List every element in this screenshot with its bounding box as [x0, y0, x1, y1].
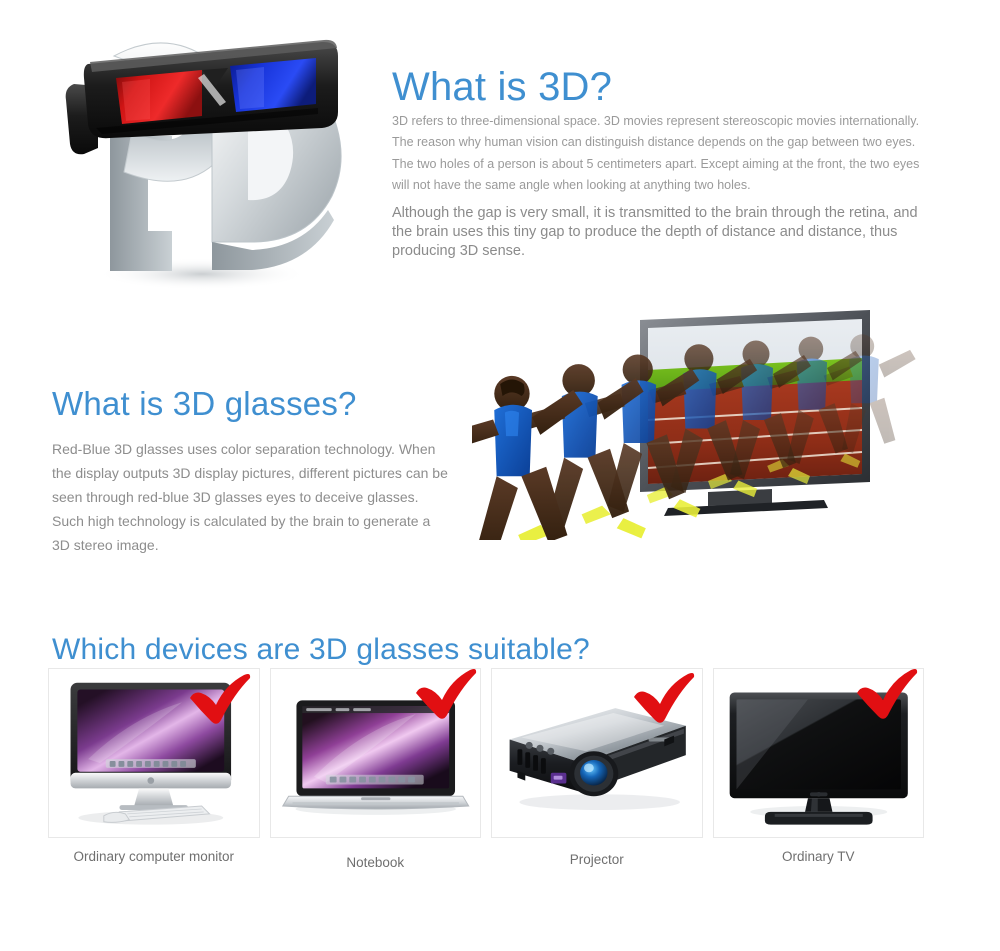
- section-what-is-3d-heading: What is 3D?: [392, 65, 612, 110]
- projector-icon: [492, 669, 701, 835]
- product-description-page: What is 3D? 3D refers to three-dimension…: [0, 0, 1000, 951]
- device-caption-notebook: Notebook: [270, 838, 482, 871]
- section-what-is-3d-glasses-heading: What is 3D glasses?: [52, 385, 357, 423]
- device-caption-monitor: Ordinary computer monitor: [48, 838, 260, 865]
- device-grid: Ordinary computer monitor: [48, 668, 924, 871]
- device-cell-tv: Ordinary TV: [713, 668, 925, 871]
- device-caption-projector: Projector: [491, 838, 703, 868]
- section-what-is-3d-glasses-paragraph: Red-Blue 3D glasses uses color separatio…: [52, 437, 452, 557]
- section-what-is-3d-paragraph-1: 3D refers to three-dimensional space. 3D…: [392, 111, 937, 197]
- device-cell-projector: Projector: [491, 668, 703, 871]
- device-card-projector[interactable]: [491, 668, 703, 838]
- television-icon: [714, 669, 923, 835]
- runner-group: [472, 334, 916, 540]
- device-card-tv[interactable]: [713, 668, 925, 838]
- runners-from-tv-image: [472, 292, 938, 540]
- 3d-logo-illustration: [52, 16, 352, 301]
- runners-illustration: [472, 292, 938, 540]
- laptop-icon: [271, 669, 480, 835]
- desktop-monitor-icon: [49, 669, 258, 835]
- device-card-monitor[interactable]: [48, 668, 260, 838]
- device-card-notebook[interactable]: [270, 668, 482, 838]
- device-cell-monitor: Ordinary computer monitor: [48, 668, 260, 871]
- device-cell-notebook: Notebook: [270, 668, 482, 871]
- device-caption-tv: Ordinary TV: [713, 838, 925, 865]
- section-what-is-3d-paragraph-2: Although the gap is very small, it is tr…: [392, 204, 932, 261]
- section-suitable-devices-heading: Which devices are 3D glasses suitable?: [52, 633, 590, 667]
- hero-3d-glasses-image: [52, 16, 352, 301]
